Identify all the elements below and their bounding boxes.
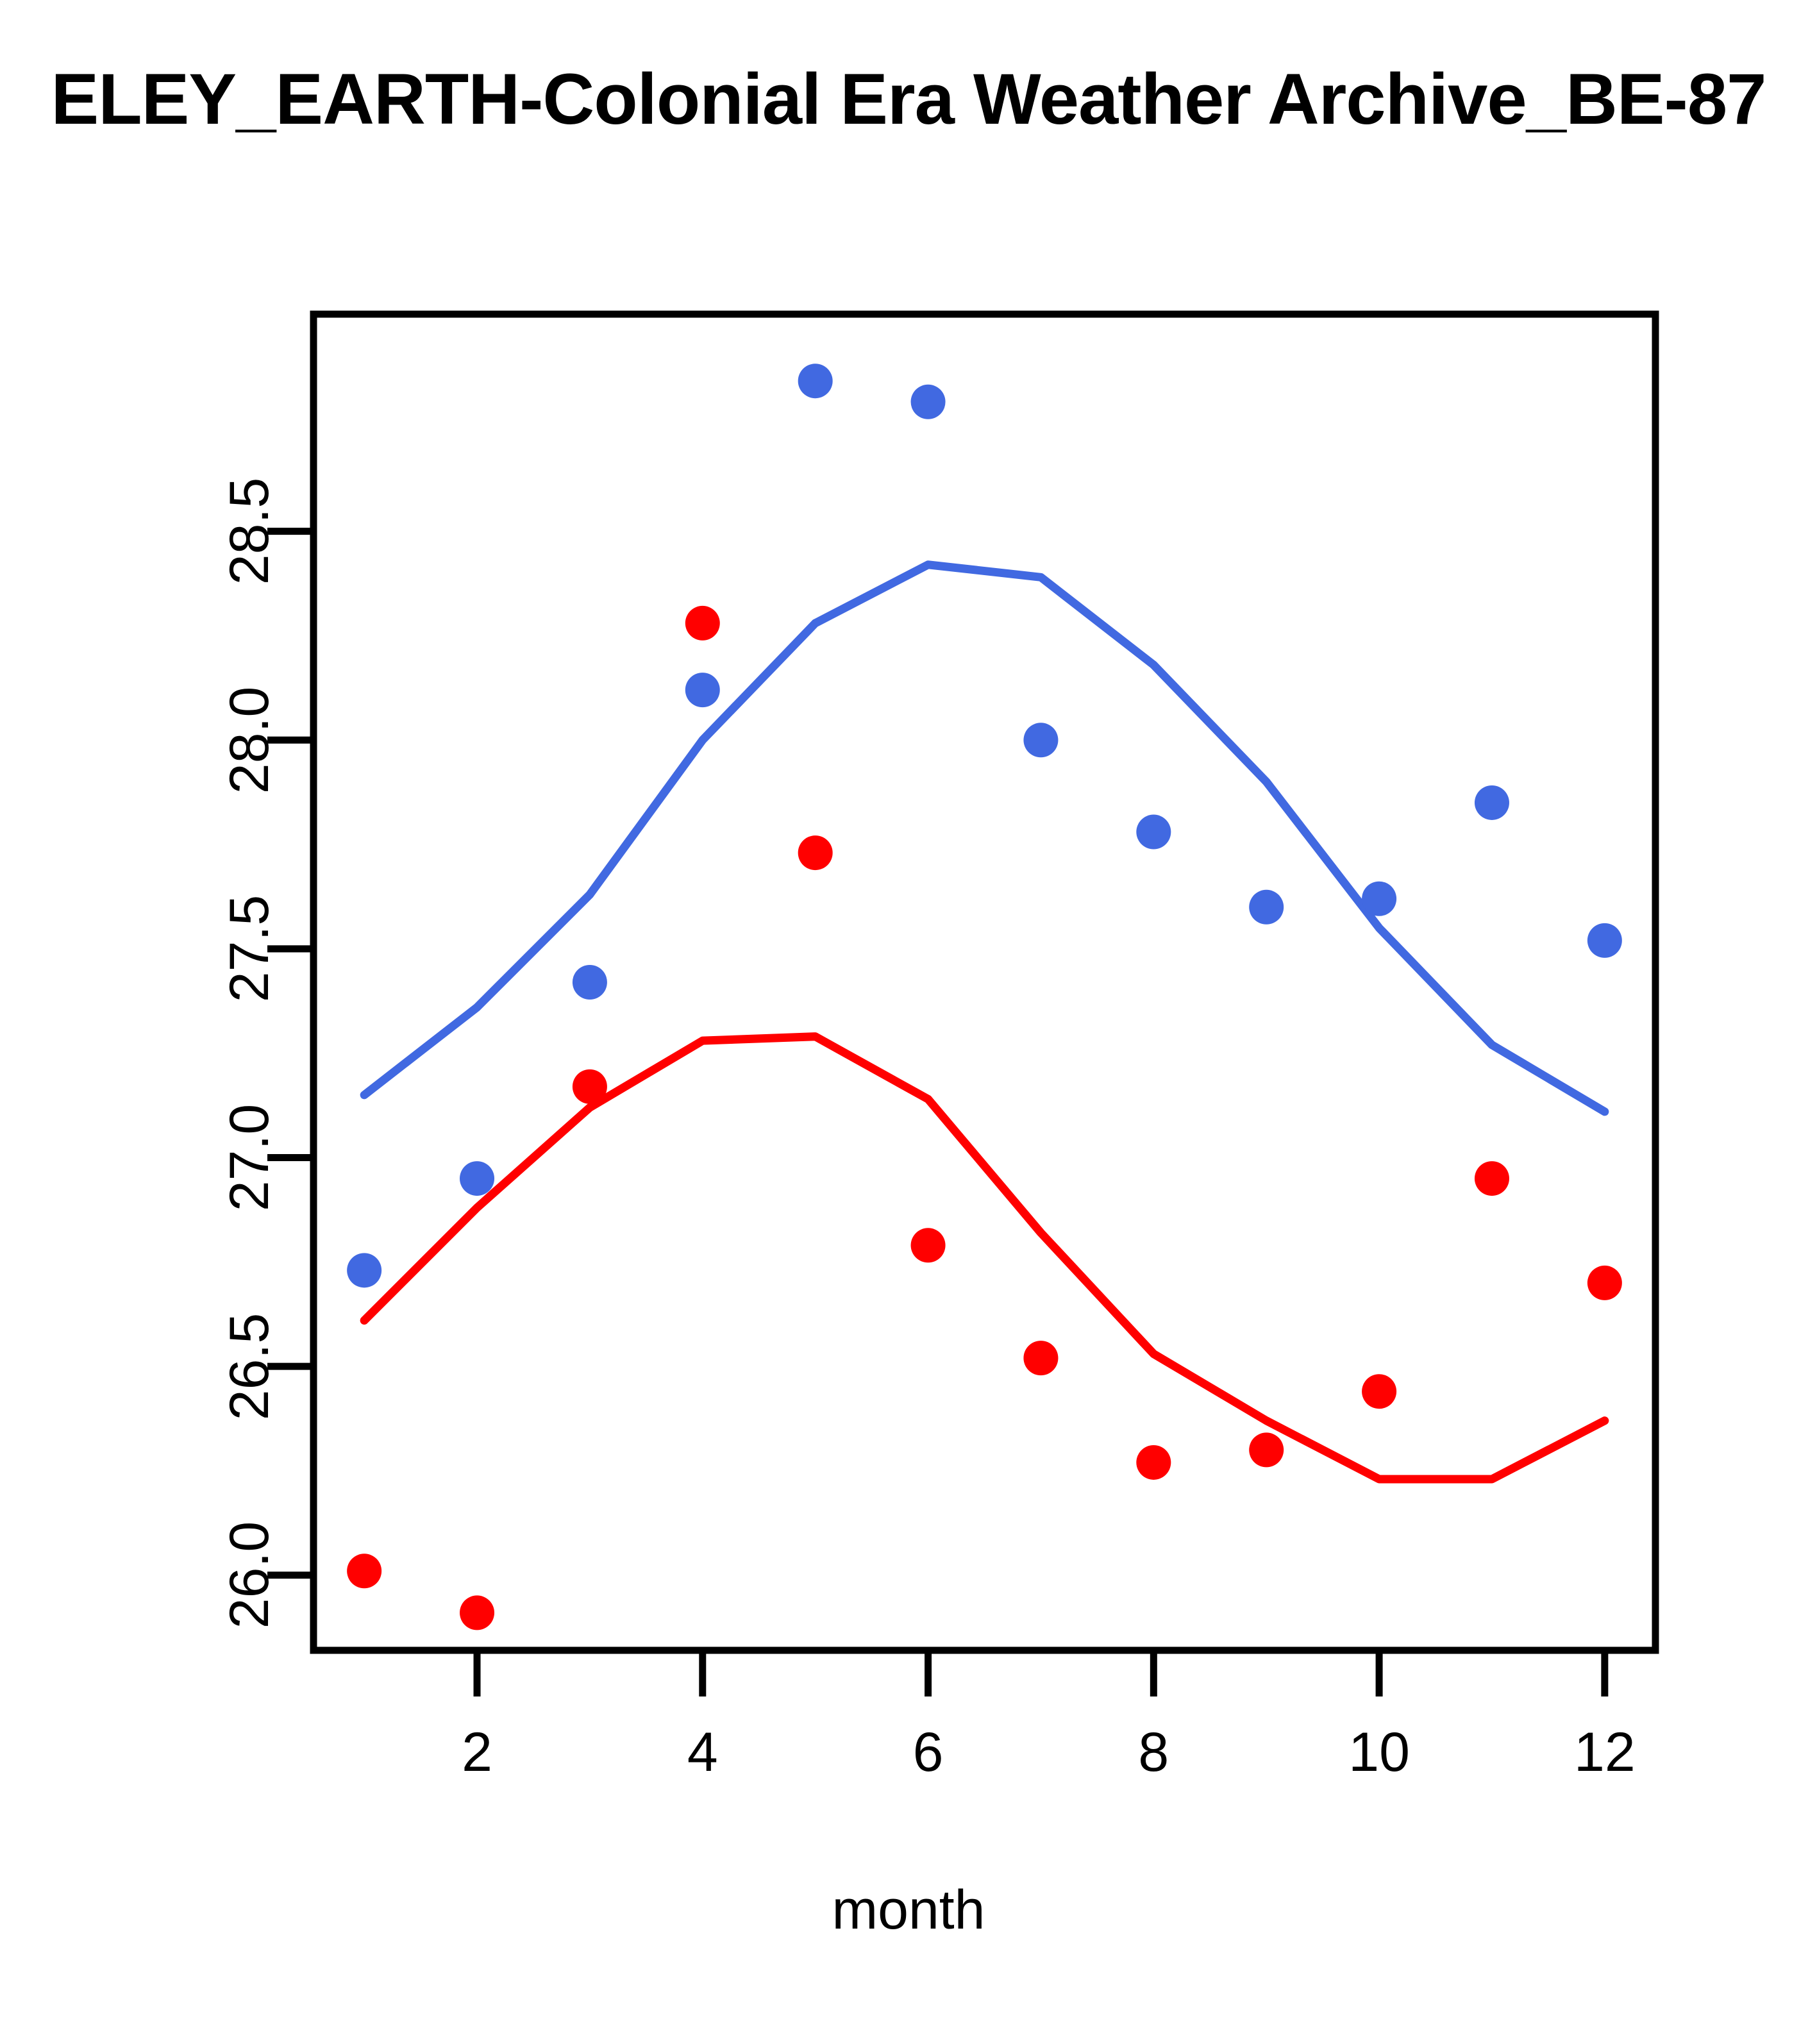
chart-root: ELEY_EARTH-Colonial Era Weather Archive_…	[0, 0, 1817, 2044]
data-point-red-points	[1136, 1445, 1171, 1480]
x-tick-label: 6	[913, 1721, 944, 1784]
series-points	[347, 364, 1622, 1630]
data-point-red-points	[347, 1554, 381, 1588]
x-tick-label: 4	[687, 1721, 718, 1784]
y-tick-label: 26.0	[218, 1521, 281, 1629]
data-point-blue-points	[460, 1161, 494, 1196]
data-point-blue-points	[573, 965, 607, 1000]
data-point-blue-points	[1249, 890, 1284, 925]
data-point-red-points	[1587, 1266, 1622, 1300]
x-tick-label: 10	[1348, 1721, 1410, 1784]
y-tick-label: 26.5	[218, 1312, 281, 1420]
data-point-red-points	[1475, 1161, 1509, 1196]
y-tick-label: 28.0	[218, 687, 281, 794]
data-point-blue-points	[1362, 882, 1396, 916]
data-point-blue-points	[911, 385, 946, 419]
data-point-red-points	[1362, 1374, 1396, 1409]
data-point-blue-points	[1475, 785, 1509, 820]
plot-box	[314, 314, 1655, 1650]
x-axis-ticks	[477, 1650, 1605, 1696]
data-point-blue-points	[1587, 923, 1622, 958]
x-axis-label: month	[0, 1879, 1817, 1942]
series-lines	[364, 565, 1605, 1479]
data-point-blue-points	[685, 673, 720, 707]
data-point-red-points	[460, 1595, 494, 1630]
data-point-red-points	[573, 1069, 607, 1104]
series-line-red-line	[364, 1037, 1605, 1479]
data-point-red-points	[911, 1228, 946, 1262]
series-line-blue-line	[364, 565, 1605, 1112]
y-tick-label: 27.5	[218, 895, 281, 1002]
plot-canvas	[0, 0, 1817, 2044]
data-point-red-points	[1023, 1341, 1058, 1375]
data-point-blue-points	[347, 1253, 381, 1287]
data-point-blue-points	[1136, 815, 1171, 850]
x-tick-label: 2	[462, 1721, 492, 1784]
x-tick-label: 12	[1574, 1721, 1636, 1784]
y-tick-label: 28.5	[218, 478, 281, 585]
plot-frame	[314, 314, 1655, 1650]
data-point-blue-points	[1023, 723, 1058, 757]
y-tick-label: 27.0	[218, 1104, 281, 1211]
data-point-red-points	[798, 835, 833, 870]
x-tick-label: 8	[1138, 1721, 1169, 1784]
data-point-red-points	[685, 606, 720, 641]
data-point-blue-points	[798, 364, 833, 398]
data-point-red-points	[1249, 1432, 1284, 1467]
